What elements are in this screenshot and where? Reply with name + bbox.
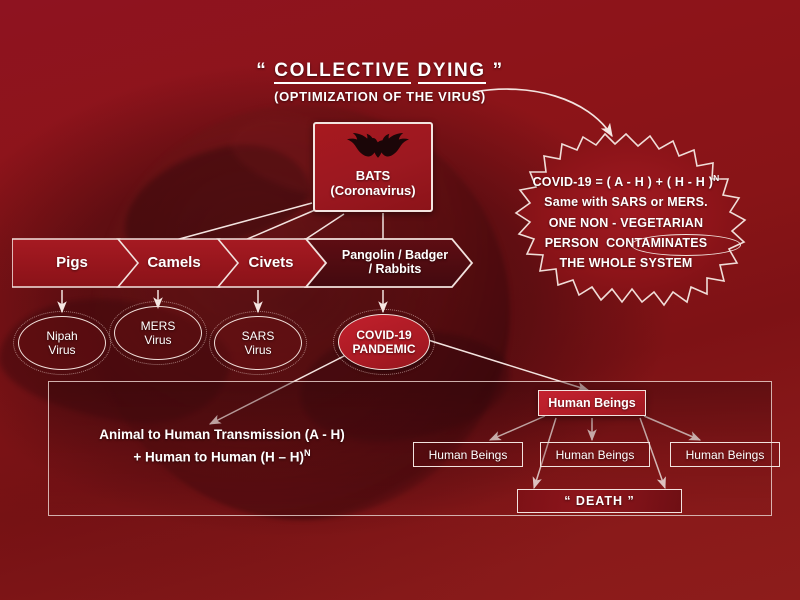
disease-oval-mers-label: MERS Virus bbox=[141, 319, 176, 347]
human-beings-box-1[interactable]: Human Beings bbox=[413, 442, 523, 467]
disease-nipah-line2: Virus bbox=[48, 343, 75, 357]
callout-text: COVID-19 = ( A - H ) + ( H - H )N Same w… bbox=[492, 172, 760, 273]
human-beings-box-2-label: Human Beings bbox=[556, 448, 635, 462]
callout-line-same-sars: Same with SARS or MERS. bbox=[492, 192, 760, 212]
human-beings-primary-box[interactable]: Human Beings bbox=[538, 390, 646, 416]
human-beings-primary-label: Human Beings bbox=[548, 396, 636, 410]
host-chevron-pangolin-line1: Pangolin / Badger bbox=[342, 248, 448, 262]
death-outcome-box[interactable]: “ DEATH ” bbox=[517, 489, 682, 513]
disease-oval-mers[interactable]: MERS Virus bbox=[114, 306, 202, 360]
host-chevron-civets[interactable]: Civets bbox=[218, 238, 324, 288]
title-subtitle: (OPTIMIZATION OF THE VIRUS) bbox=[0, 89, 760, 104]
disease-oval-covid19[interactable]: COVID-19 PANDEMIC bbox=[338, 314, 430, 370]
disease-mers-line2: Virus bbox=[144, 333, 171, 347]
title-word-collective: COLLECTIVE bbox=[274, 60, 410, 84]
disease-covid19-line2: PANDEMIC bbox=[352, 342, 415, 356]
page-title: “ COLLECTIVE DYING ” (OPTIMIZATION OF TH… bbox=[0, 60, 760, 104]
human-beings-box-2[interactable]: Human Beings bbox=[540, 442, 650, 467]
disease-oval-nipah[interactable]: Nipah Virus bbox=[18, 316, 106, 370]
title-open-quote: “ bbox=[256, 60, 267, 81]
title-main-line: “ COLLECTIVE DYING ” bbox=[0, 60, 760, 82]
human-beings-box-3-label: Human Beings bbox=[686, 448, 765, 462]
title-close-quote: ” bbox=[493, 60, 504, 81]
contaminates-circle-highlight bbox=[631, 234, 741, 256]
transmission-line2-exponent: N bbox=[304, 448, 311, 458]
host-chevron-pangolin[interactable]: Pangolin / Badger / Rabbits bbox=[324, 238, 466, 288]
callout-starburst[interactable]: COVID-19 = ( A - H ) + ( H - H )N Same w… bbox=[492, 132, 760, 308]
host-chevron-camels[interactable]: Camels bbox=[116, 238, 232, 288]
host-chevron-civets-label: Civets bbox=[248, 255, 293, 272]
disease-sars-line1: SARS bbox=[242, 329, 275, 343]
disease-oval-nipah-label: Nipah Virus bbox=[46, 329, 77, 357]
transmission-line2: + Human to Human (H – H)N bbox=[62, 446, 382, 468]
infographic-canvas: “ COLLECTIVE DYING ” (OPTIMIZATION OF TH… bbox=[0, 0, 800, 600]
death-outcome-label: “ DEATH ” bbox=[564, 494, 635, 508]
disease-oval-covid19-label: COVID-19 PANDEMIC bbox=[352, 328, 415, 356]
source-bats-sub: (Coronavirus) bbox=[315, 183, 431, 198]
disease-oval-sars[interactable]: SARS Virus bbox=[214, 316, 302, 370]
disease-mers-line1: MERS bbox=[141, 319, 176, 333]
human-beings-box-3[interactable]: Human Beings bbox=[670, 442, 780, 467]
callout-line-whole-system: THE WHOLE SYSTEM bbox=[492, 253, 760, 273]
disease-oval-sars-label: SARS Virus bbox=[242, 329, 275, 357]
disease-nipah-line1: Nipah bbox=[46, 329, 77, 343]
host-chevron-pangolin-label: Pangolin / Badger / Rabbits bbox=[342, 249, 448, 277]
host-chevron-band: Pigs Camels Civets Pangolin / Badger / R… bbox=[12, 238, 474, 288]
host-chevron-camels-label: Camels bbox=[147, 255, 200, 272]
disease-covid19-line1: COVID-19 bbox=[356, 328, 411, 342]
source-bats-box[interactable]: BATS (Coronavirus) bbox=[313, 122, 433, 212]
transmission-formula: Animal to Human Transmission (A - H) + H… bbox=[62, 425, 382, 468]
host-chevron-pigs-label: Pigs bbox=[56, 255, 88, 272]
source-bats-name: BATS bbox=[315, 168, 431, 183]
callout-formula-exponent: N bbox=[713, 173, 719, 183]
callout-formula-text: COVID-19 = ( A - H ) + ( H - H ) bbox=[533, 175, 713, 189]
disease-sars-line2: Virus bbox=[244, 343, 271, 357]
callout-person-word: PERSON bbox=[545, 236, 599, 250]
transmission-line1: Animal to Human Transmission (A - H) bbox=[62, 425, 382, 446]
host-chevron-pigs[interactable]: Pigs bbox=[12, 238, 132, 288]
source-bats-label: BATS (Coronavirus) bbox=[315, 168, 431, 199]
callout-line-formula: COVID-19 = ( A - H ) + ( H - H )N bbox=[492, 172, 760, 192]
title-word-dying: DYING bbox=[418, 60, 486, 84]
bat-icon bbox=[331, 130, 415, 171]
host-chevron-pangolin-line2: / Rabbits bbox=[369, 262, 422, 276]
human-beings-box-1-label: Human Beings bbox=[429, 448, 508, 462]
transmission-line2-text: + Human to Human (H – H) bbox=[133, 449, 304, 464]
callout-line-one-non-veg: ONE NON - VEGETARIAN bbox=[492, 213, 760, 233]
